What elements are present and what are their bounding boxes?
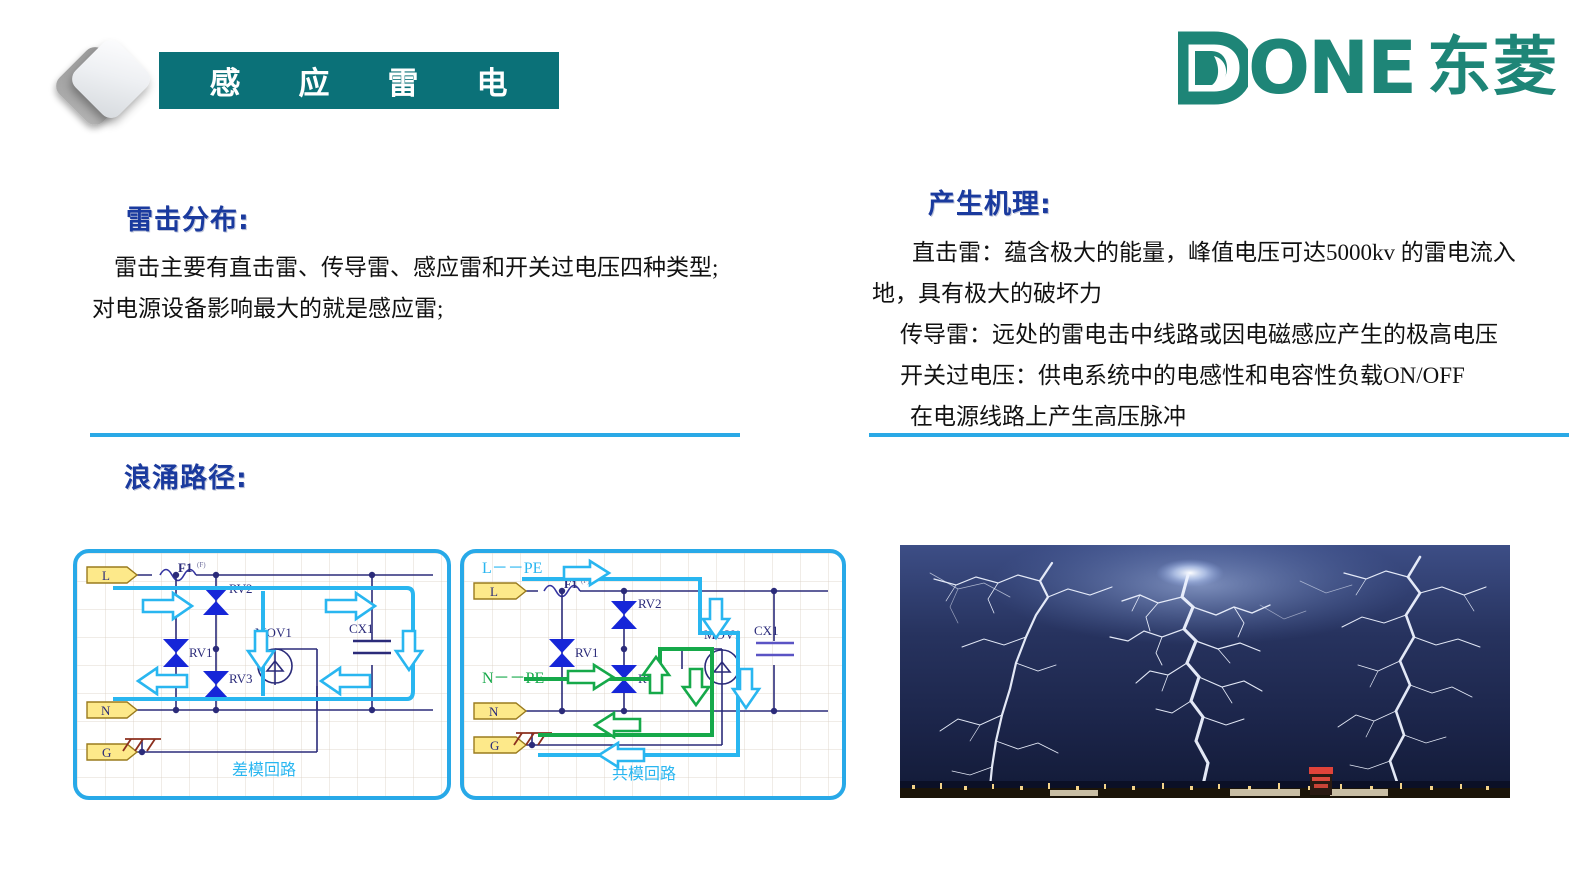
svg-text:RV1: RV1 bbox=[575, 645, 599, 660]
component-RV2 bbox=[203, 587, 229, 615]
circuit-diagram-differential-mode: L N G F1 (F) RV1 RV bbox=[73, 549, 451, 800]
heading-surge-path: 浪涌路径: bbox=[124, 456, 248, 495]
title-char-2: 应 bbox=[299, 58, 331, 103]
circuit-schematic-right: L N G F1 (F) L－－PE N－－PE RV1 bbox=[464, 553, 834, 788]
circuit-schematic-left: L N G F1 (F) RV1 RV bbox=[77, 553, 439, 788]
slide-root: 感 应 雷 电 ONE 东菱 雷击分布: 雷击主要有直击雷、传导雷、感应雷和开关… bbox=[0, 0, 1587, 892]
divider-right bbox=[869, 433, 1569, 437]
svg-text:CX1: CX1 bbox=[349, 621, 374, 636]
paragraph-line: 开关过电压：供电系统中的电感性和电容性负载ON/OFF bbox=[872, 355, 1572, 396]
svg-text:RV1: RV1 bbox=[189, 645, 213, 660]
component-RV1 bbox=[549, 639, 575, 667]
svg-text:RV3: RV3 bbox=[229, 671, 253, 686]
label-F1: F1 bbox=[178, 560, 192, 575]
component-CX1 bbox=[353, 641, 391, 653]
svg-text:N: N bbox=[489, 704, 499, 719]
paragraph-line: 地，具有极大的破坏力 bbox=[872, 273, 1572, 314]
paragraph-generation-mechanism: 直击雷：蕴含极大的能量，峰值电压可达5000kv 的雷电流入 地，具有极大的破坏… bbox=[872, 232, 1572, 437]
paragraph-line: 直击雷：蕴含极大的能量，峰值电压可达5000kv 的雷电流入 bbox=[872, 232, 1572, 273]
svg-text:L: L bbox=[490, 584, 498, 599]
terminal-L: L bbox=[474, 583, 526, 599]
page-title-bar: 感 应 雷 电 bbox=[159, 52, 559, 109]
divider-left bbox=[90, 433, 740, 437]
caption-differential-mode: 差模回路 bbox=[232, 760, 296, 779]
paragraph-line: 传导雷：远处的雷电击中线路或因电磁感应产生的极高电压 bbox=[872, 314, 1572, 355]
flow-arrows-green bbox=[568, 657, 709, 737]
svg-text:G: G bbox=[490, 738, 499, 753]
svg-text:CX1: CX1 bbox=[754, 623, 779, 638]
terminal-N: N bbox=[87, 702, 137, 718]
component-RV2 bbox=[611, 601, 637, 629]
control-tower bbox=[1309, 767, 1333, 795]
title-char-3: 雷 bbox=[388, 58, 420, 103]
paragraph-line: 雷击主要有直击雷、传导雷、感应雷和开关过电压四种类型; bbox=[92, 247, 792, 288]
brand-one-text: ONE bbox=[1248, 32, 1415, 105]
svg-text:G: G bbox=[102, 745, 111, 760]
heading-generation-mechanism: 产生机理: bbox=[928, 182, 1052, 221]
svg-text:(F): (F) bbox=[197, 561, 206, 569]
caption-common-mode: 共模回路 bbox=[612, 764, 676, 783]
brand-wordmark-cn: 东菱 bbox=[1427, 36, 1559, 100]
paragraph-line: 在电源线路上产生高压脉冲 bbox=[872, 396, 1572, 437]
double-diamond-logo-icon bbox=[56, 36, 156, 136]
lightning-illustration bbox=[900, 545, 1510, 798]
component-RV1 bbox=[163, 639, 189, 667]
component-RV3 bbox=[203, 671, 229, 699]
brand-wordmark-en: ONE bbox=[1178, 31, 1415, 105]
paragraph-line: 对电源设备影响最大的就是感应雷; bbox=[92, 288, 792, 329]
terminal-L: L bbox=[87, 567, 137, 583]
svg-text:RV2: RV2 bbox=[638, 596, 662, 611]
terminal-N: N bbox=[474, 703, 526, 719]
circuit-diagram-common-mode: L N G F1 (F) L－－PE N－－PE RV1 bbox=[460, 549, 846, 800]
component-CX1 bbox=[756, 643, 794, 655]
paragraph-lightning-distribution: 雷击主要有直击雷、传导雷、感应雷和开关过电压四种类型; 对电源设备影响最大的就是… bbox=[92, 247, 792, 329]
svg-text:L: L bbox=[102, 568, 110, 583]
brand-logo: ONE 东菱 bbox=[1178, 30, 1559, 106]
brand-d-glyph-icon bbox=[1178, 31, 1248, 105]
terminal-G: G bbox=[87, 744, 137, 760]
lightning-storm-photo bbox=[900, 545, 1510, 798]
title-char-4: 电 bbox=[477, 58, 509, 103]
title-char-1: 感 bbox=[210, 58, 242, 103]
svg-text:N: N bbox=[101, 703, 111, 718]
label-L-PE: L－－PE bbox=[482, 560, 542, 577]
heading-lightning-distribution: 雷击分布: bbox=[126, 198, 250, 237]
